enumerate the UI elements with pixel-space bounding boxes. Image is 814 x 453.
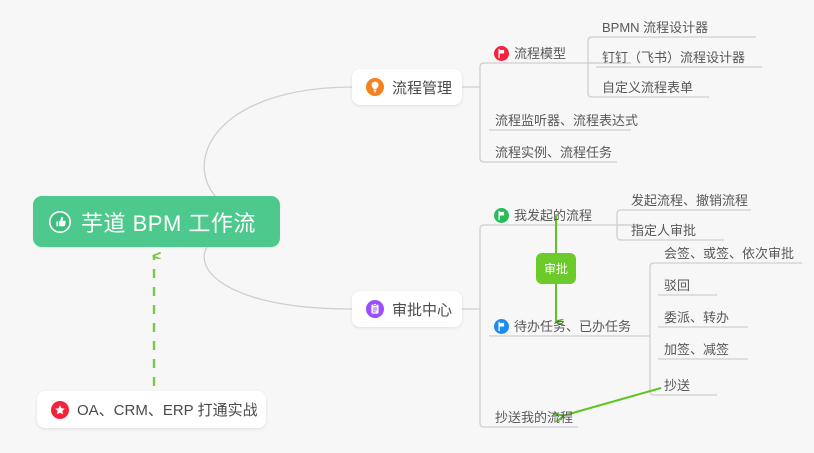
leaf-label: 抄送我的流程 (495, 410, 573, 425)
leaf-cc-my-process[interactable]: 抄送我的流程 (490, 408, 578, 430)
leaf-start-cancel-process[interactable]: 发起流程、撤销流程 (626, 191, 753, 213)
leaf-label: 流程实例、流程任务 (495, 145, 612, 160)
star-icon (51, 401, 69, 419)
leaf-label: 自定义流程表单 (602, 80, 693, 95)
flag-icon (494, 46, 509, 61)
leaf-label: BPMN 流程设计器 (602, 20, 708, 35)
flag-icon (494, 319, 509, 334)
leaf-label: 我发起的流程 (514, 208, 592, 223)
branch-node-approve-center[interactable]: 审批中心 (352, 291, 462, 327)
leaf-label: 流程模型 (514, 46, 566, 61)
leaf-bpmn-designer[interactable]: BPMN 流程设计器 (597, 18, 713, 40)
leaf-my-started-process[interactable]: 我发起的流程 (490, 206, 597, 228)
approve-annotation-label: 审批 (544, 260, 568, 277)
leaf-label: 钉钉（飞书）流程设计器 (602, 50, 745, 65)
bracket-process-model (588, 37, 596, 97)
leaf-label: 抄送 (664, 378, 690, 393)
leaf-delegate-transfer[interactable]: 委派、转办 (659, 308, 734, 330)
branch-label-approve-center: 审批中心 (392, 299, 452, 320)
bracket-approve-center (480, 225, 489, 427)
leaf-dingtalk-designer[interactable]: 钉钉（飞书）流程设计器 (597, 48, 750, 70)
branch-node-process-mgmt[interactable]: 流程管理 (352, 69, 462, 105)
root-node[interactable]: 芋道 BPM 工作流 (33, 196, 280, 247)
mindmap-canvas: 芋道 BPM 工作流 流程管理 审批中心 (0, 0, 814, 453)
leaf-reject[interactable]: 驳回 (659, 276, 695, 298)
flag-icon (494, 208, 509, 223)
leaf-process-model[interactable]: 流程模型 (490, 44, 571, 66)
root-label: 芋道 BPM 工作流 (81, 206, 256, 238)
leaf-custom-form[interactable]: 自定义流程表单 (597, 78, 698, 100)
thumbs-up-icon (49, 211, 71, 233)
leaf-label: 发起流程、撤销流程 (631, 193, 748, 208)
approve-annotation-badge: 审批 (536, 253, 576, 284)
branch-label-process-mgmt: 流程管理 (392, 77, 452, 98)
leaf-label: 会签、或签、依次审批 (664, 246, 794, 261)
leaf-cc[interactable]: 抄送 (659, 376, 695, 398)
bracket-todo (650, 263, 658, 395)
bracket-process-mgmt (480, 63, 489, 162)
lightbulb-icon (366, 78, 384, 96)
leaf-label: 加签、减签 (664, 342, 729, 357)
leaf-assignee-approval[interactable]: 指定人审批 (626, 221, 701, 243)
leaf-label: 指定人审批 (631, 223, 696, 238)
leaf-countersign[interactable]: 会签、或签、依次审批 (659, 244, 799, 266)
leaf-label: 驳回 (664, 278, 690, 293)
leaf-add-remove-sign[interactable]: 加签、减签 (659, 340, 734, 362)
leaf-process-instance[interactable]: 流程实例、流程任务 (490, 143, 617, 165)
leaf-todo-done-tasks[interactable]: 待办任务、已办任务 (490, 317, 636, 339)
clipboard-icon (366, 300, 384, 318)
leaf-label: 待办任务、已办任务 (514, 319, 631, 334)
leaf-label: 流程监听器、流程表达式 (495, 113, 638, 128)
bracket-my-started (617, 210, 625, 240)
integration-node-label: OA、CRM、ERP 打通实战 (77, 399, 258, 420)
leaf-process-listener[interactable]: 流程监听器、流程表达式 (490, 111, 643, 133)
integration-node[interactable]: OA、CRM、ERP 打通实战 (37, 391, 266, 428)
leaf-label: 委派、转办 (664, 310, 729, 325)
